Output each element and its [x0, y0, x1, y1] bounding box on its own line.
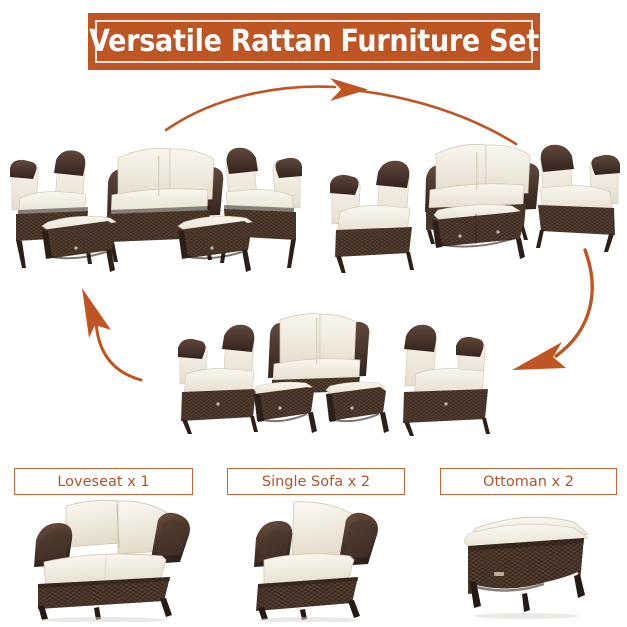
label-ottoman: Ottoman x 2: [483, 474, 574, 490]
label-loveseat: Loveseat x 1: [57, 474, 149, 490]
product-photo-loveseat: [8, 498, 208, 622]
label-box-loveseat: Loveseat x 1: [14, 468, 193, 495]
product-photo-single-sofa: [222, 498, 412, 622]
arrowhead-right: [512, 342, 566, 370]
title-banner: Versatile Rattan Furniture Set: [88, 13, 540, 70]
single-sofa-right: [536, 145, 620, 252]
label-single-sofa: Single Sofa x 2: [262, 474, 370, 490]
ottoman-right: [326, 382, 389, 433]
single-sofa-right: [403, 325, 490, 436]
arrow-left-icon: [82, 288, 141, 380]
scene-bottom-center: [140, 312, 500, 437]
arrowhead-left: [82, 288, 111, 338]
ottoman-right: [178, 216, 252, 272]
scene-top-right: [326, 138, 626, 273]
infographic-page: Versatile Rattan Furniture Set .arc{fill…: [0, 0, 627, 627]
title-banner-inner-border: Versatile Rattan Furniture Set: [95, 20, 533, 63]
scene-top-left: [0, 138, 320, 273]
ottoman-left: [42, 216, 116, 272]
label-box-single-sofa: Single Sofa x 2: [227, 468, 405, 495]
single-sofa-left: [330, 161, 414, 273]
arrowhead-top: [330, 78, 368, 101]
product-photo-ottoman: [432, 498, 624, 622]
arrow-top-icon: [166, 78, 516, 144]
single-sofa-left: [178, 325, 258, 434]
page-title: Versatile Rattan Furniture Set: [89, 24, 539, 59]
ottoman-left: [254, 382, 317, 433]
label-box-ottoman: Ottoman x 2: [440, 468, 617, 495]
ottoman-pair: [432, 205, 525, 259]
